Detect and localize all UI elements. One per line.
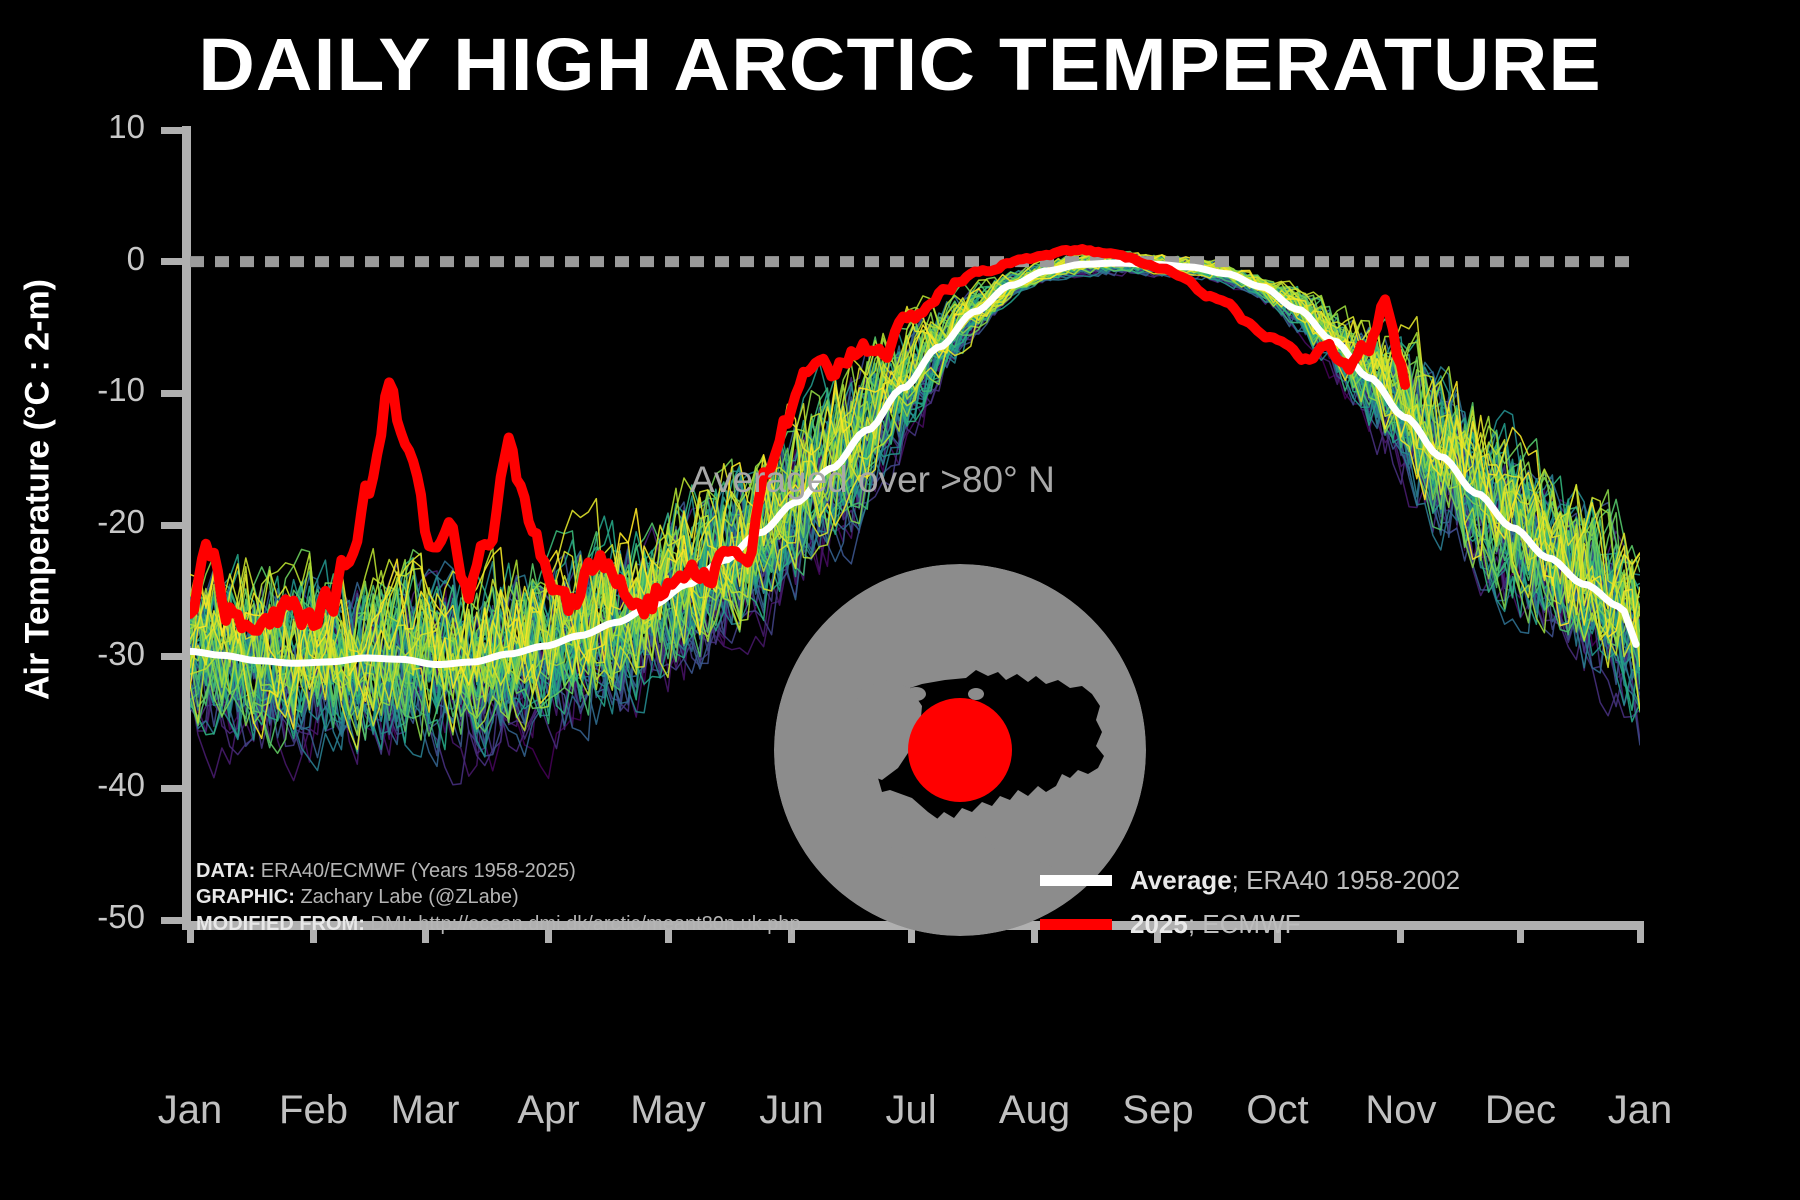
legend-swatch-average [1040, 875, 1112, 886]
figure-root: DAILY HIGH ARCTIC TEMPERATURE Air Temper… [0, 0, 1800, 1200]
x-tick-0 [187, 921, 194, 943]
map-island-b [906, 687, 926, 701]
legend-label-current-year: 2025; ECMWF [1130, 909, 1301, 940]
x-tick-label-feb-1: Feb [279, 1088, 348, 1133]
credit-graphic-label: GRAPHIC: [196, 886, 295, 908]
credit-modified-value: DMI: http://ocean.dmi.dk/arctic/meant80n… [365, 913, 801, 935]
x-tick-label-sep-8: Sep [1122, 1088, 1193, 1133]
legend-label-rest-average: ; ERA40 1958-2002 [1232, 865, 1460, 895]
map-island-a [1072, 787, 1100, 805]
y-tick-label--10: -10 [97, 371, 145, 409]
legend-item-average[interactable]: Average; ERA40 1958-2002 [1040, 858, 1460, 902]
credit-line-modified: MODIFIED FROM: DMI: http://ocean.dmi.dk/… [196, 911, 801, 937]
y-tick--40 [161, 785, 183, 792]
y-tick-0 [161, 258, 183, 265]
x-tick-label-apr-3: Apr [517, 1088, 579, 1133]
x-tick-label-jan-12: Jan [1608, 1088, 1673, 1133]
y-tick-10 [161, 127, 183, 134]
y-tick-label-0: 0 [127, 240, 145, 278]
y-tick--30 [161, 653, 183, 660]
legend-item-current-year[interactable]: 2025; ECMWF [1040, 902, 1460, 946]
x-tick-label-mar-2: Mar [391, 1088, 460, 1133]
y-tick-label--30: -30 [97, 635, 145, 673]
y-tick-label-10: 10 [108, 108, 145, 146]
map-80n-marker [908, 698, 1012, 802]
chart-legend: Average; ERA40 1958-20022025; ECMWF [1040, 858, 1460, 946]
y-tick--20 [161, 522, 183, 529]
x-tick-label-may-4: May [630, 1088, 706, 1133]
x-tick-label-aug-7: Aug [999, 1088, 1070, 1133]
legend-label-bold-average: Average [1130, 865, 1232, 895]
y-tick-label--40: -40 [97, 766, 145, 804]
credit-modified-label: MODIFIED FROM: [196, 913, 365, 935]
x-tick-label-jun-5: Jun [759, 1088, 824, 1133]
credit-data-label: DATA: [196, 860, 255, 882]
region-annotation: Averaged over >80° N [690, 459, 1055, 501]
y-tick-label--20: -20 [97, 503, 145, 541]
legend-label-bold-current-year: 2025 [1130, 909, 1188, 939]
y-tick--10 [161, 390, 183, 397]
page-title: DAILY HIGH ARCTIC TEMPERATURE [0, 28, 1800, 102]
map-island-c [968, 688, 984, 700]
credit-data-value: ERA40/ECMWF (Years 1958-2025) [255, 860, 576, 882]
legend-swatch-current-year [1040, 919, 1112, 930]
credit-graphic-value: Zachary Labe (@ZLabe) [295, 886, 519, 908]
credit-line-graphic: GRAPHIC: Zachary Labe (@ZLabe) [196, 884, 801, 910]
y-tick--50 [161, 917, 183, 924]
credits-block: DATA: ERA40/ECMWF (Years 1958-2025) GRAP… [196, 858, 801, 937]
x-tick-label-dec-11: Dec [1485, 1088, 1556, 1133]
legend-label-average: Average; ERA40 1958-2002 [1130, 865, 1460, 896]
y-axis-title: Air Temperature (°C : 2-m) [19, 140, 58, 840]
credit-line-data: DATA: ERA40/ECMWF (Years 1958-2025) [196, 858, 801, 884]
x-tick-label-jan-0: Jan [158, 1088, 223, 1133]
x-tick-11 [1517, 921, 1524, 943]
x-tick-label-nov-10: Nov [1365, 1088, 1436, 1133]
legend-label-rest-current-year: ; ECMWF [1188, 909, 1301, 939]
x-tick-12 [1637, 921, 1644, 943]
x-tick-label-jul-6: Jul [885, 1088, 936, 1133]
x-tick-label-oct-9: Oct [1246, 1088, 1308, 1133]
y-tick-label--50: -50 [97, 898, 145, 936]
